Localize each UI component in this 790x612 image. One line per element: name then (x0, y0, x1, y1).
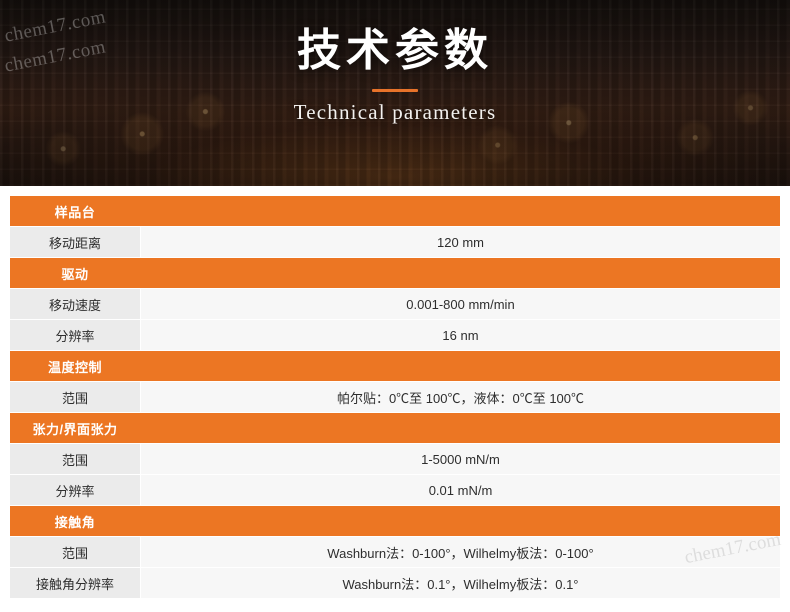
section-header: 样品台 (10, 196, 780, 226)
title-divider (372, 89, 418, 92)
row-value: 16 nm (140, 320, 780, 350)
section-title: 接触角 (10, 512, 140, 531)
row-value: 帕尔贴：0℃至 100℃，液体：0℃至 100℃ (140, 382, 780, 412)
row-label: 范围 (10, 444, 140, 474)
page-subtitle: Technical parameters (294, 100, 497, 125)
row-value: 120 mm (140, 227, 780, 257)
row-label: 范围 (10, 382, 140, 412)
row-label: 移动距离 (10, 227, 140, 257)
specs-table: 样品台移动距离120 mm驱动移动速度0.001-800 mm/min分辨率16… (10, 196, 780, 598)
section-header: 温度控制 (10, 351, 780, 381)
table-row: 分辨率0.01 mN/m (10, 475, 780, 505)
table-row: 移动距离120 mm (10, 227, 780, 257)
table-row: 范围Washburn法：0-100°，Wilhelmy板法：0-100° (10, 537, 780, 567)
row-value: 0.001-800 mm/min (140, 289, 780, 319)
row-label: 范围 (10, 537, 140, 567)
section-title: 驱动 (10, 264, 140, 283)
row-label: 移动速度 (10, 289, 140, 319)
hero-banner: 技术参数 Technical parameters chem17.com che… (0, 0, 790, 186)
row-value: 0.01 mN/m (140, 475, 780, 505)
section-header: 驱动 (10, 258, 780, 288)
row-label: 分辨率 (10, 475, 140, 505)
row-value: Washburn法：0-100°，Wilhelmy板法：0-100° (140, 537, 780, 567)
row-label: 接触角分辨率 (10, 568, 140, 598)
page-title: 技术参数 (297, 26, 493, 77)
row-label: 分辨率 (10, 320, 140, 350)
technical-parameters-page: 技术参数 Technical parameters chem17.com che… (0, 0, 790, 612)
section-title: 张力/界面张力 (10, 419, 140, 438)
section-header: 张力/界面张力 (10, 413, 780, 443)
table-row: 接触角分辨率Washburn法：0.1°，Wilhelmy板法：0.1° (10, 568, 780, 598)
table-row: 范围帕尔贴：0℃至 100℃，液体：0℃至 100℃ (10, 382, 780, 412)
table-row: 范围1-5000 mN/m (10, 444, 780, 474)
section-title: 温度控制 (10, 357, 140, 376)
row-value: 1-5000 mN/m (140, 444, 780, 474)
section-header: 接触角 (10, 506, 780, 536)
table-row: 移动速度0.001-800 mm/min (10, 289, 780, 319)
section-title: 样品台 (10, 202, 140, 221)
table-row: 分辨率16 nm (10, 320, 780, 350)
hero-content: 技术参数 Technical parameters (0, 0, 790, 186)
row-value: Washburn法：0.1°，Wilhelmy板法：0.1° (140, 568, 780, 598)
